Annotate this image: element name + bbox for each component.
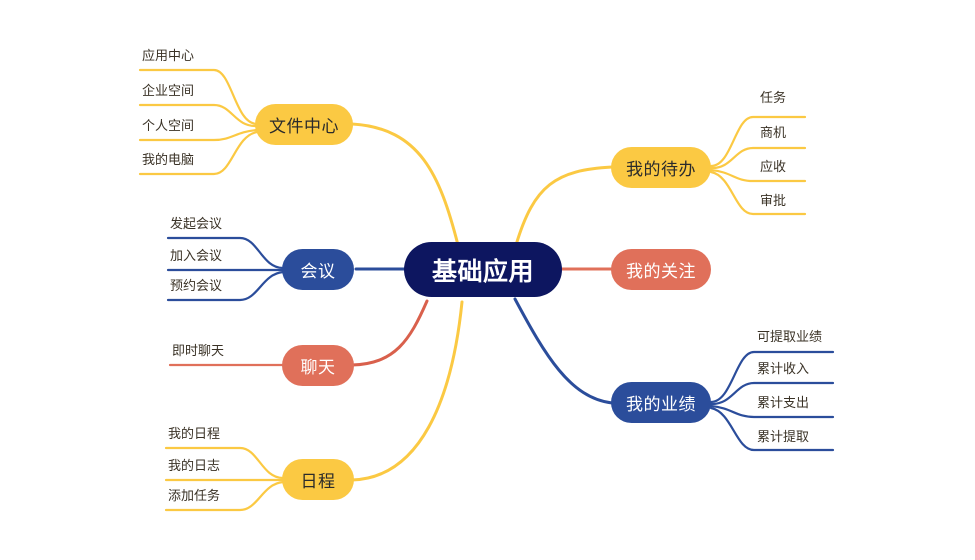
branch-node-my-performance-label: 我的业绩: [626, 390, 696, 415]
branch-node-my-performance[interactable]: 我的业绩: [611, 382, 711, 423]
leaf-file-center-1[interactable]: 企业空间: [142, 83, 194, 99]
leaf-label: 任务: [760, 90, 786, 105]
leaf-file-center-3[interactable]: 我的电脑: [142, 152, 194, 168]
leaf-schedule-1[interactable]: 我的日志: [168, 458, 220, 474]
leaf-label: 累计收入: [757, 361, 809, 376]
leaf-label: 添加任务: [168, 488, 220, 503]
leaf-label: 我的日志: [168, 458, 220, 473]
branch-node-my-focus-label: 我的关注: [626, 257, 696, 282]
leaf-file-center-2[interactable]: 个人空间: [142, 118, 194, 134]
leaf-my-todo-1[interactable]: 商机: [760, 125, 786, 141]
edge-root-to-my-performance: [515, 299, 612, 403]
leaf-schedule-2[interactable]: 添加任务: [168, 488, 220, 504]
leaf-label: 加入会议: [170, 248, 222, 263]
edge-root-to-schedule: [352, 302, 462, 480]
leaf-label: 商机: [760, 125, 786, 140]
branch-node-file-center[interactable]: 文件中心: [255, 104, 353, 145]
leaf-label: 审批: [760, 193, 786, 208]
leaf-label: 累计提取: [757, 429, 809, 444]
leaf-meeting-2[interactable]: 预约会议: [170, 278, 222, 294]
leaf-label: 发起会议: [170, 216, 222, 231]
leaf-label: 我的电脑: [142, 152, 194, 167]
branch-node-schedule[interactable]: 日程: [282, 459, 354, 500]
leaf-chat-0[interactable]: 即时聊天: [172, 343, 224, 359]
leaf-my-performance-0[interactable]: 可提取业绩: [757, 329, 822, 345]
leaf-my-todo-3[interactable]: 审批: [760, 193, 786, 209]
leaf-my-todo-2[interactable]: 应收: [760, 159, 786, 175]
leaf-label: 个人空间: [142, 118, 194, 133]
edge-root-to-file-center: [352, 124, 458, 245]
leaf-my-performance-3[interactable]: 累计提取: [757, 429, 809, 445]
leaf-label: 企业空间: [142, 83, 194, 98]
branch-node-meeting[interactable]: 会议: [282, 249, 354, 290]
leaf-my-performance-1[interactable]: 累计收入: [757, 361, 809, 377]
branch-node-my-focus[interactable]: 我的关注: [611, 249, 711, 290]
leaf-label: 预约会议: [170, 278, 222, 293]
leaf-my-performance-2[interactable]: 累计支出: [757, 395, 809, 411]
leaf-label: 应用中心: [142, 48, 194, 63]
leaf-schedule-0[interactable]: 我的日程: [168, 426, 220, 442]
leaf-label: 可提取业绩: [757, 329, 822, 344]
leaf-label: 即时聊天: [172, 343, 224, 358]
mindmap-canvas: 基础应用 文件中心 会议 聊天 日程 我的待办 我的关注 我的业绩 应用中心 企…: [0, 0, 975, 560]
root-node-label: 基础应用: [432, 252, 534, 288]
branch-node-chat-label: 聊天: [301, 353, 336, 378]
branch-node-chat[interactable]: 聊天: [282, 345, 354, 386]
branch-node-meeting-label: 会议: [301, 257, 336, 282]
root-node-basic-apps[interactable]: 基础应用: [404, 242, 562, 297]
edges-my-todo-children: [711, 117, 805, 214]
leaf-label: 应收: [760, 159, 786, 174]
branch-node-schedule-label: 日程: [301, 467, 336, 492]
branch-node-my-todo-label: 我的待办: [626, 155, 696, 180]
leaf-meeting-0[interactable]: 发起会议: [170, 216, 222, 232]
edge-root-to-chat: [352, 301, 427, 365]
branch-node-my-todo[interactable]: 我的待办: [611, 147, 711, 188]
edge-root-to-my-todo: [516, 167, 612, 245]
branch-node-file-center-label: 文件中心: [269, 112, 339, 137]
leaf-label: 累计支出: [757, 395, 809, 410]
leaf-my-todo-0[interactable]: 任务: [760, 90, 786, 106]
leaf-file-center-0[interactable]: 应用中心: [142, 48, 194, 64]
leaf-meeting-1[interactable]: 加入会议: [170, 248, 222, 264]
leaf-label: 我的日程: [168, 426, 220, 441]
